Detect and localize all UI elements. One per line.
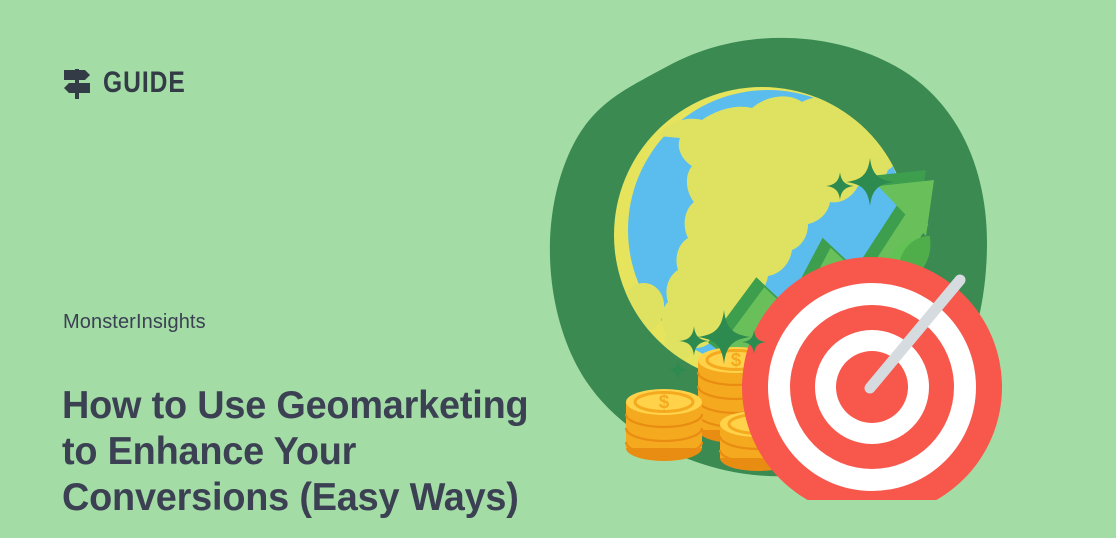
page-title: How to Use Geomarketing to Enhance Your … bbox=[62, 383, 566, 521]
headline-line-3: Conversions (Easy Ways) bbox=[62, 475, 566, 521]
promo-banner: GUIDE MonsterInsights How to Use Geomark… bbox=[0, 0, 1116, 538]
headline-line-2: to Enhance Your bbox=[62, 429, 566, 475]
svg-text:$: $ bbox=[659, 392, 670, 413]
coin-stack-left: $ bbox=[626, 389, 702, 461]
logo-label: GUIDE bbox=[103, 68, 186, 98]
signpost-icon bbox=[62, 65, 92, 101]
svg-text:$: $ bbox=[731, 350, 742, 371]
headline-line-1: How to Use Geomarketing bbox=[62, 383, 566, 429]
guide-logo: GUIDE bbox=[62, 62, 204, 104]
brand-name: MonsterInsights bbox=[63, 312, 206, 332]
geomarketing-illustration: $ $ bbox=[540, 30, 1040, 500]
